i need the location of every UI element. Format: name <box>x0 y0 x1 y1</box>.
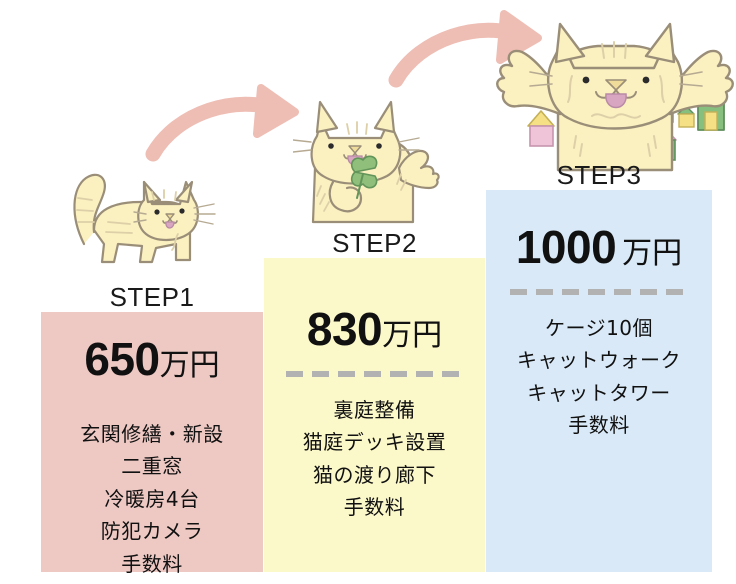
amount-number-2: 830 <box>307 303 382 355</box>
list-item: 猫の渡り廊下 <box>303 459 447 491</box>
house-block-yellow-pink <box>528 111 554 146</box>
list-item: 二重窓 <box>80 450 224 482</box>
step-items-1: 玄関修繕・新設 二重窓 冷暖房4台 防犯カメラ 手数料 <box>80 418 224 580</box>
infographic-canvas: STEP1 650万円 玄関修繕・新設 二重窓 冷暖房4台 防犯カメラ 手数料 … <box>0 0 736 584</box>
list-item: 手数料 <box>517 409 681 441</box>
list-item: 防犯カメラ <box>80 515 224 547</box>
amount-unit-2: 万円 <box>382 319 442 352</box>
step-column-1: STEP1 650万円 玄関修繕・新設 二重窓 冷暖房4台 防犯カメラ 手数料 <box>41 282 263 572</box>
walking-cat-illustration <box>48 152 218 287</box>
divider-2 <box>286 371 464 377</box>
list-item: 猫庭デッキ設置 <box>303 426 447 458</box>
step-column-2: STEP2 830万円 裏庭整備 猫庭デッキ設置 猫の渡り廊下 手数料 <box>264 228 485 572</box>
step-amount-2: 830万円 <box>307 306 442 352</box>
step-amount-3: 1000万円 <box>516 224 682 270</box>
divider-3 <box>510 289 688 295</box>
amount-unit-1: 万円 <box>160 349 220 382</box>
list-item: ケージ10個 <box>517 312 681 344</box>
step-card-1: 650万円 玄関修繕・新設 二重窓 冷暖房4台 防犯カメラ 手数料 <box>41 312 263 572</box>
list-item: キャットタワー <box>517 377 681 409</box>
amount-number-1: 650 <box>84 333 159 385</box>
step-column-3: STEP3 1000万円 ケージ10個 キャットウォーク キャットタワー 手数料 <box>486 160 712 572</box>
step-items-3: ケージ10個 キャットウォーク キャットタワー 手数料 <box>517 312 681 442</box>
step-card-3: 1000万円 ケージ10個 キャットウォーク キャットタワー 手数料 <box>486 190 712 572</box>
list-item: 冷暖房4台 <box>80 483 224 515</box>
list-item: 手数料 <box>80 548 224 580</box>
step-amount-1: 650万円 <box>84 336 219 382</box>
step-label-1: STEP1 <box>41 282 263 313</box>
list-item: 手数料 <box>303 491 447 523</box>
step-label-2: STEP2 <box>264 228 485 259</box>
list-item: キャットウォーク <box>517 344 681 376</box>
list-item: 玄関修繕・新設 <box>80 418 224 450</box>
amount-unit-3: 万円 <box>622 237 682 270</box>
step-card-2: 830万円 裏庭整備 猫庭デッキ設置 猫の渡り廊下 手数料 <box>264 258 485 572</box>
cheering-cat-illustration <box>494 18 734 178</box>
step-items-2: 裏庭整備 猫庭デッキ設置 猫の渡り廊下 手数料 <box>303 394 447 524</box>
step-label-3: STEP3 <box>486 160 712 191</box>
list-item: 裏庭整備 <box>303 394 447 426</box>
clover-cat-illustration <box>293 90 448 230</box>
amount-number-3: 1000 <box>516 221 616 273</box>
